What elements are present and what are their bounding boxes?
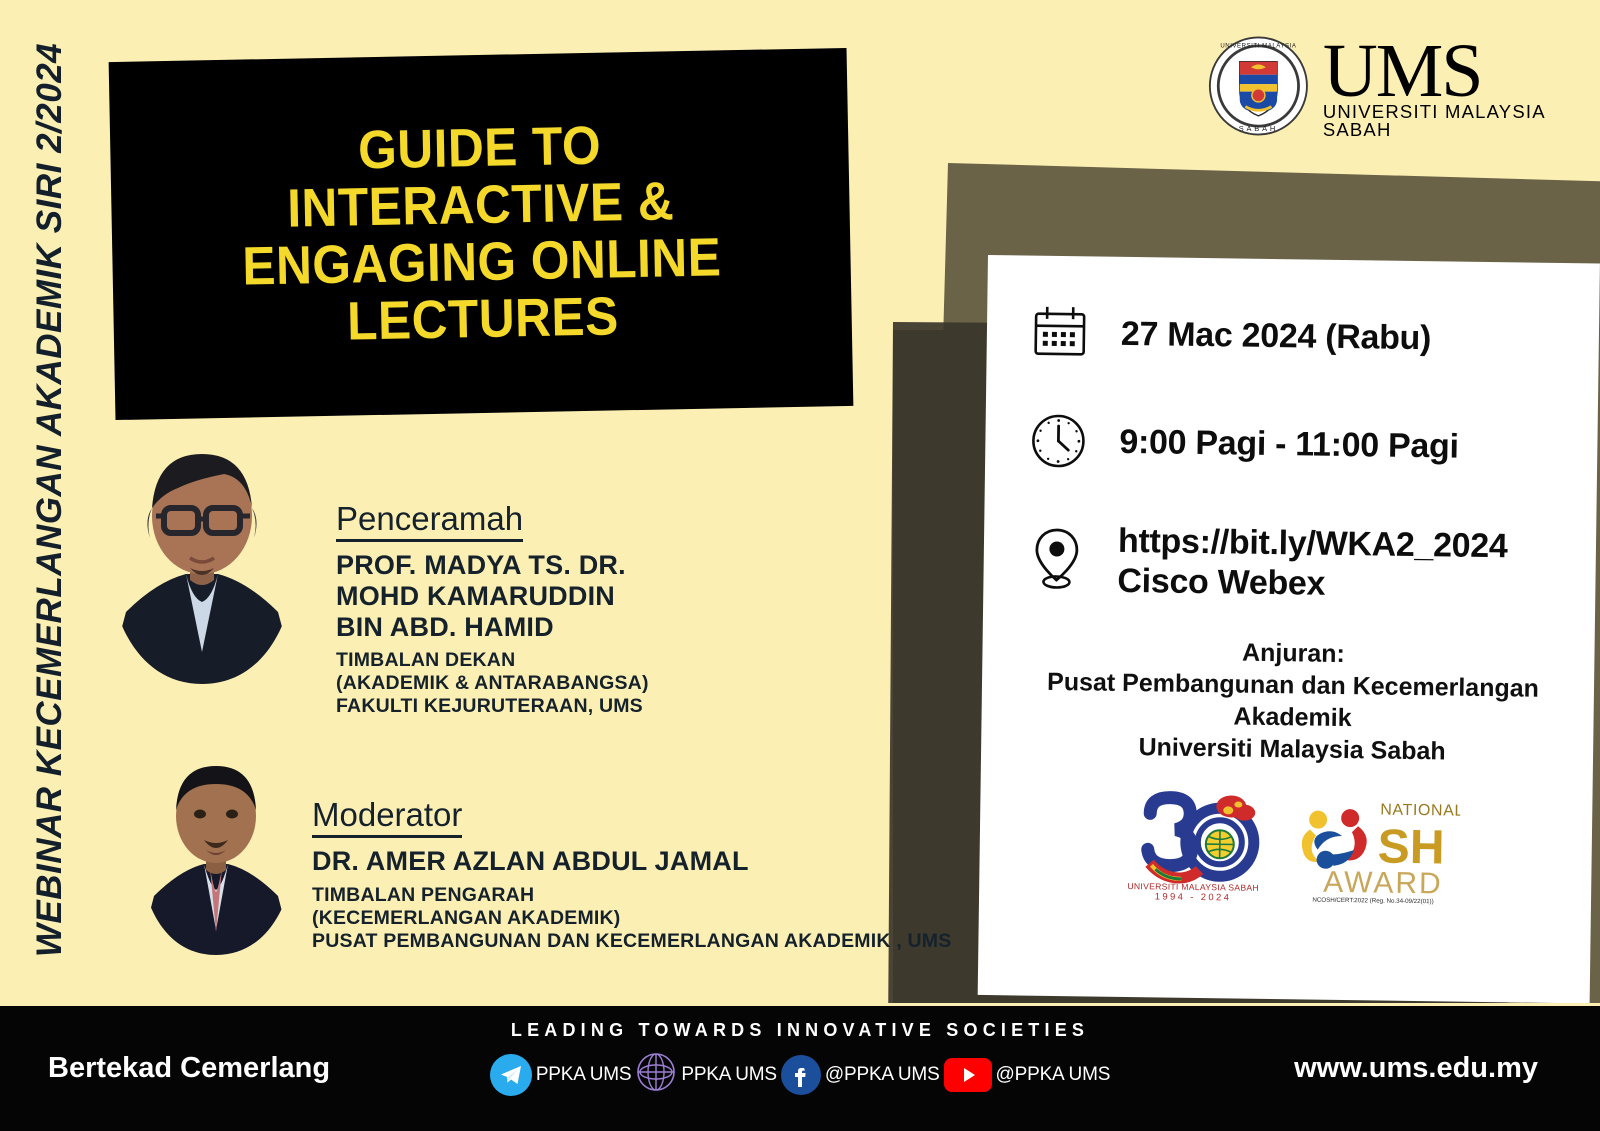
event-time: 9:00 Pagi - 11:00 Pagi xyxy=(1119,422,1459,467)
speaker-name-line-1: PROF. MADYA TS. DR. xyxy=(336,550,649,581)
speaker-photo xyxy=(86,422,318,687)
ums-30th-anniversary-logo: UNIVERSITI MALAYSIA SABAH 1994 - 2024 xyxy=(1127,789,1261,908)
speaker-affil-line-1: TIMBALAN DEKAN xyxy=(336,649,649,672)
organiser-line-1: Pusat Pembangunan dan Kecemerlangan Akad… xyxy=(1023,666,1562,738)
footer-center: LEADING TOWARDS INNOVATIVE SOCIETIES PPK… xyxy=(420,1020,1180,1098)
nosh-national-text: NATIONAL xyxy=(1380,802,1460,820)
moderator-affiliation: TIMBALAN PENGARAH (KECEMERLANGAN AKADEMI… xyxy=(312,884,951,953)
youtube-icon[interactable] xyxy=(944,1058,992,1092)
side-banner: WEBINAR KECEMERLANGAN AKADEMIK SIRI 2/20… xyxy=(0,0,100,1000)
event-link[interactable]: https://bit.ly/WKA2_2024 xyxy=(1118,521,1508,567)
event-time-row: 9:00 Pagi - 11:00 Pagi xyxy=(1027,412,1572,478)
social-facebook[interactable]: @PPKA UMS xyxy=(781,1055,940,1095)
nosh-award-text: AWARD xyxy=(1323,866,1443,901)
facebook-icon[interactable] xyxy=(781,1055,821,1095)
clock-icon xyxy=(1027,412,1090,471)
event-details-card: 27 Mac 2024 (Rabu) xyxy=(978,255,1600,1003)
side-banner-text: WEBINAR KECEMERLANGAN AKADEMIK SIRI 2/20… xyxy=(30,43,70,957)
social-youtube-label: @PPKA UMS xyxy=(996,1064,1111,1086)
footer-bar: Bertekad Cemerlang LEADING TOWARDS INNOV… xyxy=(0,1003,1600,1131)
calendar-icon xyxy=(1029,304,1092,363)
poster-title-block: GUIDE TO INTERACTIVE & ENGAGING ONLINE L… xyxy=(109,48,854,420)
social-website-label: PPKA UMS xyxy=(681,1064,777,1086)
speaker-affil-line-2: (AKADEMIK & ANTARABANGSA) xyxy=(336,672,649,695)
organiser-block: Anjuran: Pusat Pembangunan dan Kecemerla… xyxy=(1023,634,1569,770)
page-title: GUIDE TO INTERACTIVE & ENGAGING ONLINE L… xyxy=(239,115,722,353)
organiser-line-2: Universiti Malaysia Sabah xyxy=(1023,730,1561,770)
footer-tagline: LEADING TOWARDS INNOVATIVE SOCIETIES xyxy=(420,1020,1180,1041)
globe-icon[interactable] xyxy=(635,1051,677,1098)
event-date-row: 27 Mac 2024 (Rabu) xyxy=(1029,304,1574,370)
ums-fullname: UNIVERSITI MALAYSIA SABAH xyxy=(1323,103,1600,140)
event-platform: Cisco Webex xyxy=(1117,561,1507,607)
webinar-poster: WEBINAR KECEMERLANGAN AKADEMIK SIRI 2/20… xyxy=(0,0,1600,1131)
nosh-award-logo: NATIONAL SH AWARD NCOSH/CERT:2022 (Reg. … xyxy=(1287,791,1461,910)
social-telegram-label: PPKA UMS xyxy=(536,1064,632,1086)
moderator-photo xyxy=(122,740,310,958)
svg-text:SABAH: SABAH xyxy=(1239,124,1278,133)
ums-crest-icon: UNIVERSITI MALAYSIA SABAH xyxy=(1208,32,1309,140)
moderator-affil-line-2: (KECEMERLANGAN AKADEMIK) xyxy=(312,907,951,930)
speaker-affil-line-3: FAKULTI KEJURUTERAAN, UMS xyxy=(336,695,649,718)
social-links: PPKA UMS PPKA UMS xyxy=(420,1051,1180,1098)
speaker-affiliation: TIMBALAN DEKAN (AKADEMIK & ANTARABANGSA)… xyxy=(336,649,649,718)
social-facebook-label: @PPKA UMS xyxy=(825,1064,940,1086)
social-website[interactable]: PPKA UMS xyxy=(635,1051,777,1098)
event-location: https://bit.ly/WKA2_2024 Cisco Webex xyxy=(1117,521,1508,607)
ums-wordmark: UMS UNIVERSITI MALAYSIA SABAH xyxy=(1323,33,1600,140)
partner-logos: UNIVERSITI MALAYSIA SABAH 1994 - 2024 NA… xyxy=(1021,788,1567,913)
event-date: 27 Mac 2024 (Rabu) xyxy=(1121,314,1432,358)
ums-initials: UMS xyxy=(1323,33,1600,109)
speaker-text: Penceramah PROF. MADYA TS. DR. MOHD KAMA… xyxy=(336,500,649,718)
social-telegram[interactable]: PPKA UMS xyxy=(490,1054,632,1096)
moderator-text: Moderator DR. AMER AZLAN ABDUL JAMAL TIM… xyxy=(312,796,951,953)
moderator-role-label: Moderator xyxy=(312,796,462,838)
moderator-name: DR. AMER AZLAN ABDUL JAMAL xyxy=(312,846,951,877)
ums-logo: UNIVERSITI MALAYSIA SABAH UMS UNIVERSITI… xyxy=(1208,32,1600,140)
title-line-3: ENGAGING ONLINE xyxy=(242,229,722,295)
moderator-affil-line-1: TIMBALAN PENGARAH xyxy=(312,884,951,907)
location-pin-icon xyxy=(1025,526,1088,591)
moderator-name-line-1: DR. AMER AZLAN ABDUL JAMAL xyxy=(312,846,951,877)
footer-website[interactable]: www.ums.edu.my xyxy=(1294,1052,1538,1085)
speaker-role-label: Penceramah xyxy=(336,500,523,542)
moderator-affil-line-3: PUSAT PEMBANGUNAN DAN KECEMERLANGAN AKAD… xyxy=(312,930,951,953)
event-location-row: https://bit.ly/WKA2_2024 Cisco Webex xyxy=(1025,520,1570,608)
telegram-icon[interactable] xyxy=(490,1054,532,1096)
speaker-name: PROF. MADYA TS. DR. MOHD KAMARUDDIN BIN … xyxy=(336,550,649,642)
footer-motto: Bertekad Cemerlang xyxy=(48,1052,330,1085)
nosh-cert-text: NCOSH/CERT:2022 (Reg. No.34-09/22(01)) xyxy=(1312,897,1433,906)
title-line-4: LECTURES xyxy=(243,287,723,353)
anniv-years: 1994 - 2024 xyxy=(1155,891,1232,903)
svg-text:UNIVERSITI MALAYSIA: UNIVERSITI MALAYSIA xyxy=(1220,44,1296,50)
speaker-name-line-2: MOHD KAMARUDDIN BIN ABD. HAMID xyxy=(336,581,649,643)
social-youtube[interactable]: @PPKA UMS xyxy=(944,1058,1111,1092)
